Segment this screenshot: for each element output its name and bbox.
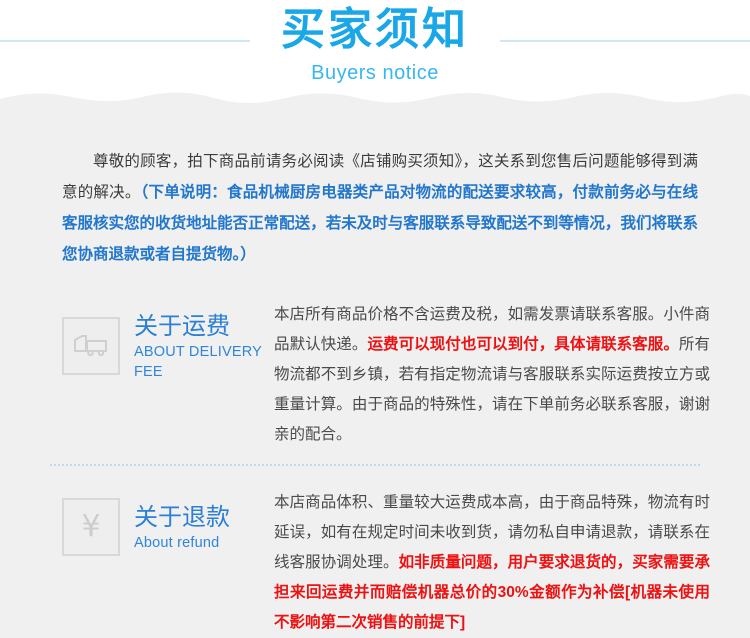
section-refund-heading: ¥ 关于退款 About refund	[62, 482, 274, 556]
title-row: 买家须知 Buyers notice	[0, 0, 750, 62]
section-delivery-title-en: ABOUT DELIVERY FEE	[134, 342, 274, 382]
section-delivery-heading: 关于运费 ABOUT DELIVERY FEE	[62, 294, 274, 382]
yen-symbol: ¥	[81, 512, 100, 542]
delivery-truck-icon	[62, 317, 120, 375]
yen-refund-icon: ¥	[62, 498, 120, 556]
section-refund: ¥ 关于退款 About refund 本店商品体积、重量较大运费成本高，由于商…	[0, 482, 750, 638]
section-refund-title-cn: 关于退款	[134, 503, 230, 533]
section-refund-title-en: About refund	[134, 533, 230, 553]
section-refund-titles: 关于退款 About refund	[134, 501, 230, 553]
page-title: 买家须知	[0, 2, 750, 58]
section-delivery-titles: 关于运费 ABOUT DELIVERY FEE	[134, 310, 274, 382]
section-delivery-fee: 关于运费 ABOUT DELIVERY FEE 本店所有商品价格不含运费及税，如…	[0, 294, 750, 450]
section-delivery-title-cn: 关于运费	[134, 312, 274, 342]
delivery-text-highlight: 运费可以现付也可以到付，具体请联系客服。	[367, 336, 678, 353]
section-delivery-body: 本店所有商品价格不含运费及税，如需发票请联系客服。小件商品默认快递。运费可以现付…	[274, 294, 710, 450]
page-subtitle: Buyers notice	[0, 60, 750, 86]
section-divider	[50, 464, 700, 466]
intro-paragraph: 尊敬的顾客，拍下商品前请务必阅读《店铺购买须知》，这关系到您售后问题能够得到满意…	[0, 108, 750, 270]
section-refund-body: 本店商品体积、重量较大运费成本高，由于商品特殊，物流有时延误，如有在规定时间未收…	[274, 482, 710, 638]
intro-text-note: （下单说明：食品机械厨房电器类产品对物流的配送要求较高，付款前务必与在线客服核实…	[62, 184, 698, 263]
wavy-edge-divider	[0, 90, 750, 108]
header-inner: 买家须知 Buyers notice	[0, 0, 750, 100]
page-header: 买家须知 Buyers notice	[0, 0, 750, 108]
